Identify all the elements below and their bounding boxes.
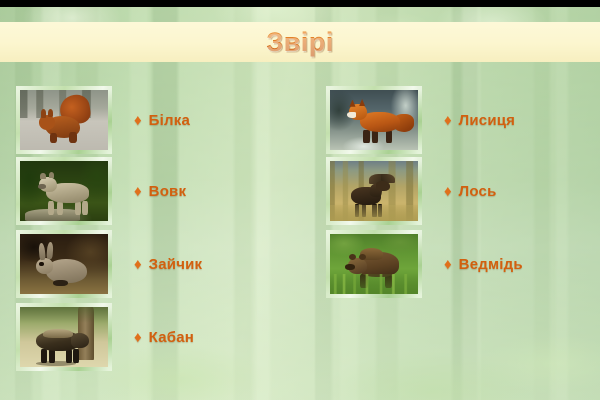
- moose-photo-frame[interactable]: [326, 157, 422, 225]
- wolf-label[interactable]: ♦ Вовк: [134, 183, 186, 200]
- list-item-label: Вовк: [149, 183, 187, 200]
- diamond-bullet-icon: ♦: [134, 184, 142, 199]
- rabbit-head: [36, 258, 54, 274]
- squirrel-photo: [20, 90, 108, 150]
- list-item[interactable]: ♦ Кабан: [16, 303, 194, 371]
- boar-leg-4: [73, 349, 79, 363]
- list-item[interactable]: ♦ Вовк: [16, 157, 186, 225]
- title-banner: Звірі: [0, 22, 600, 62]
- squirrel-leg-front: [50, 133, 57, 143]
- list-item-label: Лось: [459, 183, 497, 200]
- wolf-leg-1: [48, 201, 54, 215]
- rabbit-ear-right: [47, 242, 54, 259]
- list-item-label: Лисиця: [459, 112, 515, 129]
- fox-photo-frame[interactable]: [326, 86, 422, 154]
- wolf-photo-frame[interactable]: [16, 157, 112, 225]
- moose-head: [376, 181, 390, 191]
- list-item[interactable]: ♦ Білка: [16, 86, 190, 154]
- diamond-bullet-icon: ♦: [444, 257, 452, 272]
- slide: Звірі ♦ Білка: [0, 0, 600, 400]
- fox-muzzle: [347, 112, 357, 118]
- fox-leg-1: [363, 130, 369, 143]
- list-item-label: Зайчик: [149, 256, 203, 273]
- rabbit-photo-frame[interactable]: [16, 230, 112, 298]
- fox-ear-right: [359, 99, 365, 106]
- rabbit-label[interactable]: ♦ Зайчик: [134, 256, 202, 273]
- moose-photo: [330, 161, 418, 221]
- boar-leg-1: [41, 349, 47, 363]
- content-area: ♦ Білка: [0, 62, 600, 400]
- page-title: Звірі: [266, 27, 334, 58]
- list-item[interactable]: ♦ Зайчик: [16, 230, 202, 298]
- wolf-photo: [20, 161, 108, 221]
- bear-ear-right: [359, 254, 366, 260]
- diamond-bullet-icon: ♦: [134, 113, 142, 128]
- fox-label[interactable]: ♦ Лисиця: [444, 112, 515, 129]
- list-item[interactable]: ♦ Лисиця: [326, 86, 515, 154]
- bear-photo-frame[interactable]: [326, 230, 422, 298]
- squirrel-label[interactable]: ♦ Білка: [134, 112, 190, 129]
- boar-photo-frame[interactable]: [16, 303, 112, 371]
- squirrel-ear-left: [41, 109, 46, 117]
- list-item-label: Ведмідь: [459, 256, 523, 273]
- rabbit-ear-left: [39, 243, 47, 260]
- wolf-ear-right: [49, 172, 54, 178]
- bear-snout: [345, 264, 355, 270]
- diamond-bullet-icon: ♦: [444, 113, 452, 128]
- moose-label[interactable]: ♦ Лось: [444, 183, 497, 200]
- diamond-bullet-icon: ♦: [134, 257, 142, 272]
- squirrel-leg-back: [69, 132, 77, 143]
- fox-photo: [330, 90, 418, 150]
- rabbit-foot: [53, 280, 67, 287]
- wolf-ear-left: [40, 173, 45, 179]
- boar-leg-3: [66, 349, 72, 363]
- fox-ear-left: [349, 100, 355, 107]
- boar-label[interactable]: ♦ Кабан: [134, 329, 194, 346]
- squirrel-photo-frame[interactable]: [16, 86, 112, 154]
- bear-grass-foreground: [330, 274, 418, 294]
- moose-grass-foreground: [330, 205, 418, 221]
- bear-label[interactable]: ♦ Ведмідь: [444, 256, 523, 273]
- list-item[interactable]: ♦ Лось: [326, 157, 497, 225]
- boar-photo: [20, 307, 108, 367]
- boar-leg-2: [49, 349, 55, 363]
- list-item-label: Білка: [149, 112, 190, 129]
- diamond-bullet-icon: ♦: [134, 330, 142, 345]
- list-item-label: Кабан: [149, 329, 194, 346]
- wolf-leg-4: [82, 201, 88, 215]
- diamond-bullet-icon: ♦: [444, 184, 452, 199]
- boar-mane: [43, 329, 73, 339]
- bear-photo: [330, 234, 418, 294]
- squirrel-ear-right: [48, 109, 53, 117]
- letterbox-top-bar: [0, 0, 600, 7]
- list-item[interactable]: ♦ Ведмідь: [326, 230, 523, 298]
- boar-head: [71, 333, 89, 347]
- rabbit-photo: [20, 234, 108, 294]
